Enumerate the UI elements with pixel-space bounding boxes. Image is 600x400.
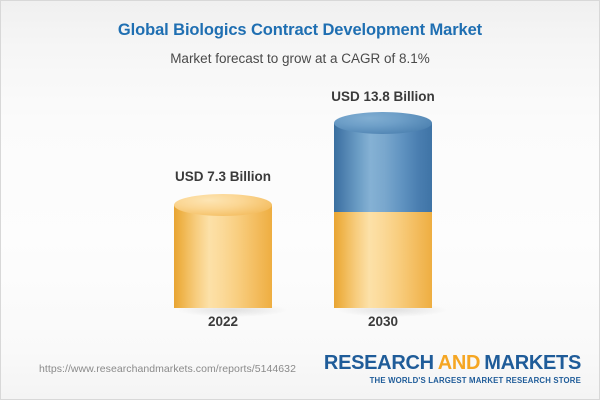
logo-word-markets: MARKETS bbox=[484, 352, 581, 374]
bar-cylinder-2030[interactable] bbox=[334, 123, 432, 308]
bar-segment-growth-2030 bbox=[334, 123, 432, 212]
footer: https://www.researchandmarkets.com/repor… bbox=[1, 341, 599, 399]
logo-word-research: RESEARCH bbox=[324, 352, 434, 374]
logo-wordmark: RESEARCHANDMARKETS bbox=[324, 353, 581, 373]
logo-word-and: AND bbox=[438, 352, 480, 374]
value-label-2030: USD 13.8 Billion bbox=[303, 89, 463, 104]
category-label-2030: 2030 bbox=[303, 314, 463, 329]
value-label-2022: USD 7.3 Billion bbox=[143, 169, 303, 184]
category-label-2022: 2022 bbox=[143, 314, 303, 329]
research-and-markets-logo[interactable]: RESEARCHANDMARKETS THE WORLD'S LARGEST M… bbox=[324, 353, 581, 385]
infographic-card: Global Biologics Contract Development Ma… bbox=[0, 0, 600, 400]
header: Global Biologics Contract Development Ma… bbox=[1, 1, 599, 67]
bar-top-ellipse-2030 bbox=[334, 112, 432, 134]
page-title: Global Biologics Contract Development Ma… bbox=[1, 21, 599, 41]
bar-segment-base-2022 bbox=[174, 205, 272, 308]
bar-cylinder-2022[interactable] bbox=[174, 205, 272, 308]
bar-group-2030: USD 13.8 Billion 2030 bbox=[303, 86, 463, 341]
bar-segment-base-2030 bbox=[334, 212, 432, 308]
bar-top-ellipse-2022 bbox=[174, 194, 272, 216]
chart-subtitle: Market forecast to grow at a CAGR of 8.1… bbox=[1, 51, 599, 67]
report-url-link[interactable]: https://www.researchandmarkets.com/repor… bbox=[39, 363, 296, 375]
logo-tagline: THE WORLD'S LARGEST MARKET RESEARCH STOR… bbox=[324, 376, 581, 385]
chart-plot-area: USD 7.3 Billion 2022 USD 13.8 Billion 20… bbox=[1, 86, 599, 341]
bar-group-2022: USD 7.3 Billion 2022 bbox=[143, 86, 303, 341]
